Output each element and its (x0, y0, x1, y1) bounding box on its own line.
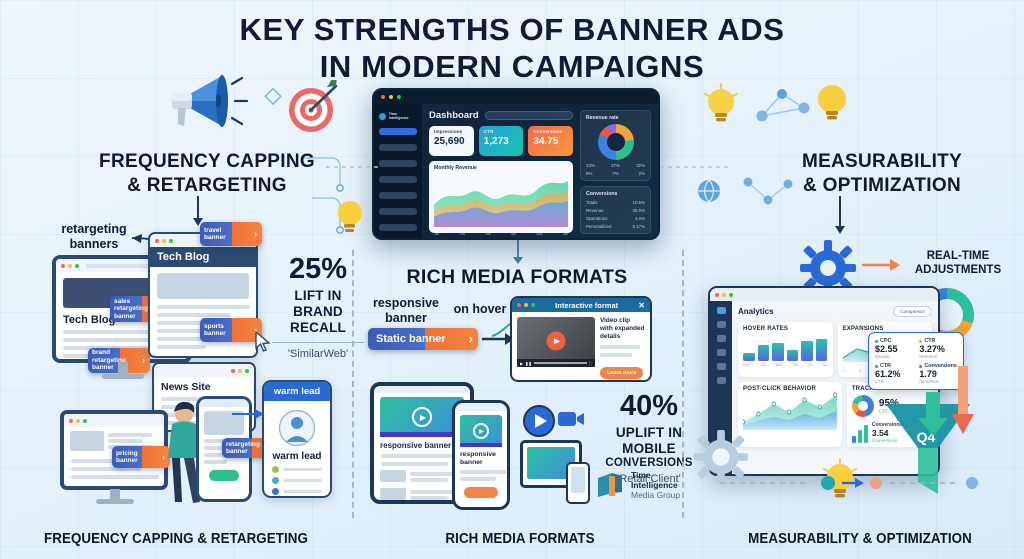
kpi-label-conversions: Conversions (533, 130, 568, 135)
real-time-line2: ADJUSTMENTS (898, 264, 1018, 278)
phone-small-mock (566, 462, 590, 504)
retargeting-banner-sports[interactable]: sportsbanner › (200, 318, 262, 342)
tech-blog-header: Tech Blog (150, 247, 256, 267)
conv-row-value-3: 9.17% (633, 224, 645, 229)
donut-legend-4: 7% (612, 171, 618, 176)
hover-rates-title: HOVER RATES (743, 326, 828, 332)
status-dot-blue (272, 488, 279, 495)
conv-row-name-2: Operations (586, 216, 607, 221)
phone-video[interactable]: ▶ (460, 415, 502, 447)
responsive-note-line1: responsive (368, 296, 444, 311)
banner-text-phone: retargetingbanner (226, 441, 260, 456)
arrow-down-right (832, 196, 848, 236)
video-play-icon[interactable]: ▶ (520, 361, 523, 366)
sidebar-icon-gear[interactable] (717, 377, 726, 384)
retargeting-banner-2[interactable]: brandretargetingbanner › (88, 348, 150, 373)
kpi-value-ctr: 1,273 (484, 136, 519, 147)
analytics-min-dot[interactable] (722, 293, 726, 297)
learn-more-button[interactable]: Learn more (600, 367, 643, 379)
sidebar-icon-list[interactable] (717, 321, 726, 328)
interactive-titlebar: Interactive format ✕ (512, 298, 650, 312)
stat-25-source: 'SimilarWeb' (258, 348, 378, 360)
window-maximize-dot[interactable] (397, 95, 401, 99)
bottom-label-middle: RICH MEDIA FORMATS (391, 531, 649, 547)
metric-value-ctr2: 61.2% (875, 369, 911, 379)
analytics-close-dot[interactable] (715, 293, 719, 297)
infographic-canvas: KEY STRENGTHS OF BANNER ADS IN MODERN CA… (0, 0, 1024, 559)
warm-lead-card[interactable]: warm lead warm lead (262, 380, 332, 498)
hover-tick-3: Thu (792, 363, 798, 367)
lightbulb-icon-mid-left (332, 196, 368, 240)
responsive-note-line2: banner (368, 311, 444, 326)
dashboard-brand: Time Intelligence (389, 112, 417, 120)
heading-left-line2: & RETARGETING (62, 174, 352, 198)
real-time-line1: REAL-TIME (898, 250, 1018, 264)
metric-conversions: Conversions 1.79 Dimension (919, 363, 957, 384)
phone-left-cta-button[interactable] (209, 470, 239, 481)
avatar (278, 409, 316, 447)
metric-sub-ctr2: CTR (875, 379, 911, 384)
analytics-max-dot[interactable] (729, 293, 733, 297)
sidebar-icon-phone[interactable] (717, 363, 726, 370)
static-banner-label: Static banner (372, 333, 446, 346)
page-title: KEY STRENGTHS OF BANNER ADS IN MODERN CA… (0, 12, 1024, 85)
bm-max-dot[interactable] (83, 419, 87, 423)
stat-25-value: 25% (258, 255, 378, 284)
newssite-min-dot[interactable] (238, 369, 242, 373)
analytics-titlebar (710, 288, 938, 301)
banner-arrow-icon-sports: › (254, 325, 257, 335)
tracking-percent-label: CPC (879, 409, 899, 415)
logo-line-1: Time (631, 470, 680, 480)
on-hover-note: on hover (452, 302, 508, 317)
real-time-adjustments-note: REAL-TIME ADJUSTMENTS (898, 250, 1018, 278)
newssite-close-dot[interactable] (231, 369, 235, 373)
video-caption-line3: details (600, 333, 645, 341)
conv-row-value-1: 36.0% (633, 208, 645, 213)
retargeting-note-line2: banners (48, 237, 140, 252)
metric-dot-ctr2 (875, 365, 878, 368)
connector-right-to-dashboard (660, 160, 736, 174)
conversions-title: Conversions (586, 191, 645, 197)
globe-icon (696, 178, 722, 204)
sidebar-item-campaigns[interactable] (379, 160, 417, 167)
x-tick-apr: Apr (511, 232, 516, 236)
bottom-monitor-bar (64, 414, 164, 427)
conversions-value: 3.54 (872, 428, 902, 438)
comparison-button[interactable]: Comparison (893, 306, 932, 317)
hover-tick-5: Sat (822, 363, 827, 367)
video-fullscreen-icon[interactable]: ⛶ (589, 361, 592, 366)
interactive-min-dot[interactable] (524, 303, 528, 307)
dashboard-titlebar (374, 90, 658, 104)
conv-row-value-0: 10.6% (633, 200, 645, 205)
window-minimize-dot[interactable] (389, 95, 393, 99)
banner-text-2: brandretargetingbanner (92, 349, 126, 371)
static-banner[interactable]: Static banner › (368, 328, 478, 350)
newssite-max-dot[interactable] (245, 369, 249, 373)
phone-left-image (204, 411, 244, 435)
logo-mark-icon (596, 470, 626, 500)
sidebar-icon-bars[interactable] (717, 349, 726, 356)
kpi-card-impressions[interactable]: Impressions 25,690 (429, 126, 474, 156)
conversions-legend: Conversions (872, 438, 902, 443)
brand-logo: Time Intelligence Media Group (596, 470, 680, 500)
techblog-max-dot[interactable] (169, 239, 173, 243)
donut-legend-1: 27% (611, 163, 620, 168)
status-dot-green (272, 466, 279, 473)
section-heading-left: FREQUENCY CAPPING & RETARGETING (62, 150, 352, 198)
conv-row-value-2: 4.0% (635, 216, 645, 221)
sidebar-item-rates[interactable] (379, 192, 417, 199)
tracking-percent: 95% (879, 398, 899, 409)
close-icon[interactable]: ✕ (638, 301, 645, 310)
diamond-deco (262, 86, 284, 108)
video-caption-line2: with expanded (600, 325, 645, 333)
donut-legend-5: 2% (639, 171, 645, 176)
metric-sub-cpc: Nevada (875, 354, 911, 359)
metric-ctr-2: CTR 61.2% CTR (875, 363, 911, 384)
techblog-min-dot[interactable] (162, 239, 166, 243)
newssite-titlebar (154, 364, 254, 377)
phone-middle-mock: ▶ responsive banner (452, 400, 510, 510)
status-dot-teal (272, 477, 279, 484)
kpi-label-impressions: Impressions (434, 130, 469, 135)
metrics-card[interactable]: CPC $2.55 Nevada CTR 3.27% Detection CTR… (868, 332, 964, 390)
bottom-label-right: MEASURABILITY & OPTIMIZATION (713, 531, 1007, 547)
banner-arrow-icon-travel: › (254, 229, 257, 239)
sidebar-item-dashboard[interactable] (379, 128, 417, 135)
column-separator-2 (682, 250, 684, 518)
kpi-value-conversions: 34.75 (533, 136, 568, 147)
heading-left-line1: FREQUENCY CAPPING (62, 150, 352, 174)
browser-max-dot[interactable] (75, 264, 79, 268)
logo-line-2: Intelligence (631, 480, 680, 490)
x-tick-jan: Jan (434, 232, 439, 236)
tracking-card: TRACKING 95% CPC (847, 382, 932, 447)
brand-logo-icon (379, 113, 386, 120)
bottom-label-left: FREQUENCY CAPPING & RETARGETING (20, 531, 333, 547)
stat-25-label3: RECALL (258, 320, 378, 336)
interactive-format-window[interactable]: Interactive format ✕ ▶ ▶ ❚❚ ⛶ Video clip… (510, 296, 652, 382)
donut-title: Revenue rate (586, 115, 645, 121)
title-line-2: IN MODERN CAMPAIGNS (0, 49, 1024, 86)
interactive-close-dot[interactable] (517, 303, 521, 307)
metric-ctr-1: CTR 3.27% Detection (919, 338, 957, 359)
phone-banner-label-1: responsive (460, 451, 502, 459)
hover-tick-4: Fri (808, 363, 812, 367)
sidebar-icon-chart[interactable] (717, 335, 726, 342)
x-tick-may: May (536, 232, 542, 236)
dashboard-sidebar[interactable]: Time Intelligence (374, 104, 422, 238)
retargeting-note-line1: retargeting (48, 222, 140, 237)
hover-rates-bars (743, 335, 828, 361)
exp-tick-0: 1 (843, 369, 845, 373)
main-dashboard-mock[interactable]: Time Intelligence Dashboard Impres (372, 88, 660, 240)
target-icon (284, 80, 340, 136)
kpi-row: Impressions 25,690 CTR 1,273 Conversions… (429, 126, 573, 156)
sidebar-icon-home[interactable] (717, 307, 726, 314)
metric-value-cpc: $2.55 (875, 344, 911, 354)
lightbulb-icon-top-far-right (810, 78, 854, 130)
logo-line-3: Media Group (631, 490, 680, 500)
exp-tick-1: 2 (859, 369, 861, 373)
hover-tick-0: Mon (743, 363, 750, 367)
kpi-label-ctr: CTR (484, 130, 519, 135)
stat-40-label2: MOBILE (590, 441, 708, 457)
post-click-behavior-card: POST-CLICK BEHAVIOR (738, 382, 842, 447)
banner-text-travel: travelbanner (204, 227, 226, 242)
techblog-image (157, 273, 249, 299)
kpi-card-ctr[interactable]: CTR 1,273 (479, 126, 524, 156)
section-heading-right: MEASURABILITY & OPTIMIZATION (742, 150, 1022, 198)
x-tick-mar: Mar (485, 232, 491, 236)
conv-row-name-0: Totals (586, 200, 597, 205)
sidebar-item-settings[interactable] (379, 224, 417, 231)
analytics-title: Analytics (738, 307, 774, 316)
news-site-header: News Site (161, 381, 247, 393)
interactive-max-dot[interactable] (531, 303, 535, 307)
dashboard-search-input[interactable] (485, 111, 573, 120)
tablet-play-icon[interactable]: ▶ (412, 407, 432, 427)
techblog-close-dot[interactable] (155, 239, 159, 243)
retargeting-banner-travel[interactable]: travelbanner › (200, 222, 262, 246)
metric-dot-cpc (875, 340, 878, 343)
banner-arrow-icon-2: › (142, 355, 145, 365)
interactive-window-title: Interactive format (538, 301, 635, 310)
banner-arrow-icon-pricing: › (162, 452, 165, 462)
play-circle-icon[interactable] (522, 404, 556, 438)
retargeting-banners-note: retargeting banners (48, 222, 140, 252)
phone-play-icon[interactable]: ▶ (473, 423, 489, 439)
warm-lead-header: warm lead (264, 382, 330, 401)
hover-rates-card: HOVER RATES Mon Tue Wed Thu Fri (738, 322, 833, 377)
bottom-monitor-stand (92, 489, 140, 507)
responsive-banner-note: responsive banner (368, 296, 444, 326)
warm-lead-name: warm lead (264, 451, 330, 462)
conv-row-name-1: Revenue (586, 208, 604, 213)
metric-sub-ctr1: Detection (919, 354, 957, 359)
network-nodes-icon (752, 82, 814, 132)
metric-value-ctr1: 3.27% (919, 344, 957, 354)
video-player[interactable]: ▶ ▶ ❚❚ ⛶ (517, 317, 595, 367)
dashboard-page-title: Dashboard (429, 110, 479, 121)
window-close-dot[interactable] (381, 95, 385, 99)
stat-40-value: 40% (590, 392, 708, 421)
bm-min-dot[interactable] (76, 419, 80, 423)
banner-text-sports: sportsbanner (204, 323, 226, 338)
phone-cta-button[interactable] (464, 487, 498, 498)
stat-40-label3: CONVERSIONS (590, 457, 708, 471)
video-controls-bar[interactable]: ▶ ❚❚ ⛶ (517, 359, 595, 367)
monthly-revenue-chart: Monthly Revenue (429, 161, 573, 233)
analytics-sidebar[interactable] (710, 301, 732, 474)
browser-min-dot[interactable] (68, 264, 72, 268)
arrow-to-gauge (862, 256, 902, 274)
stat-25-label2: BRAND (258, 304, 378, 320)
metric-sub-conv: Dimension (919, 379, 957, 384)
stat-40-label1: UPLIFT IN (590, 425, 708, 441)
play-button-icon[interactable]: ▶ (547, 332, 566, 351)
metric-value-conv: 1.79 (919, 369, 957, 379)
conv-row-name-3: Personalized (586, 224, 611, 229)
donut-legend-0: 23% (586, 163, 595, 168)
donut-legend-3: 9% (586, 171, 592, 176)
arrow-down-middle (510, 240, 526, 266)
hover-tick-2: Wed (775, 363, 782, 367)
conversions-card: Conversions Totals10.6% Revenue36.0% Ope… (580, 186, 651, 234)
x-tick-jun: Jun (563, 232, 568, 236)
kpi-value-impressions: 25,690 (434, 136, 469, 147)
donut-legend-2: 32% (636, 163, 645, 168)
video-caption-line1: Video clip (600, 317, 645, 325)
metric-dot-ctr1 (919, 340, 922, 343)
heading-right-line2: & OPTIMIZATION (742, 174, 1022, 198)
phone-banner-label-2: banner (460, 459, 502, 467)
bm-close-dot[interactable] (69, 419, 73, 423)
area-chart-svg (434, 171, 568, 227)
hover-tick-1: Tue (760, 363, 766, 367)
section-heading-middle: RICH MEDIA FORMATS (372, 265, 662, 289)
banner-text-pricing: pricingbanner (116, 450, 138, 465)
tracking-donut (852, 395, 874, 417)
heading-right-line1: MEASURABILITY (742, 150, 1022, 174)
lightbulb-icon-top-right (700, 82, 742, 132)
post-click-area-chart (743, 392, 837, 430)
retargeting-banner-pricing[interactable]: pricingbanner › (112, 446, 170, 468)
sidebar-item-audience[interactable] (379, 208, 417, 215)
revenue-rate-card: Revenue rate 23%27%32% 9%7%2% (580, 110, 651, 181)
stat-brand-recall: 25% LIFT IN BRAND RECALL 'SimilarWeb' (258, 255, 378, 360)
video-pause-icon[interactable]: ❚❚ (525, 361, 532, 366)
stat-25-label1: LIFT IN (258, 288, 378, 304)
browser-close-dot[interactable] (61, 264, 65, 268)
sidebar-item-metrics[interactable] (379, 176, 417, 183)
x-tick-feb: Feb (459, 232, 465, 236)
banner-text-1: salesretargetingbanner (114, 298, 148, 320)
video-camera-icon[interactable] (556, 406, 586, 432)
title-line-1: KEY STRENGTHS OF BANNER ADS (240, 12, 785, 47)
metric-cpc: CPC $2.55 Nevada (875, 338, 911, 359)
stat-25-divider (272, 342, 364, 343)
donut-chart (598, 124, 634, 160)
column-separator-1 (352, 250, 354, 518)
sidebar-item-reports[interactable] (379, 144, 417, 151)
static-banner-arrow-icon: › (469, 332, 473, 347)
kpi-card-conversions[interactable]: Conversions 34.75 (528, 126, 573, 156)
metric-dot-conv (919, 365, 922, 368)
